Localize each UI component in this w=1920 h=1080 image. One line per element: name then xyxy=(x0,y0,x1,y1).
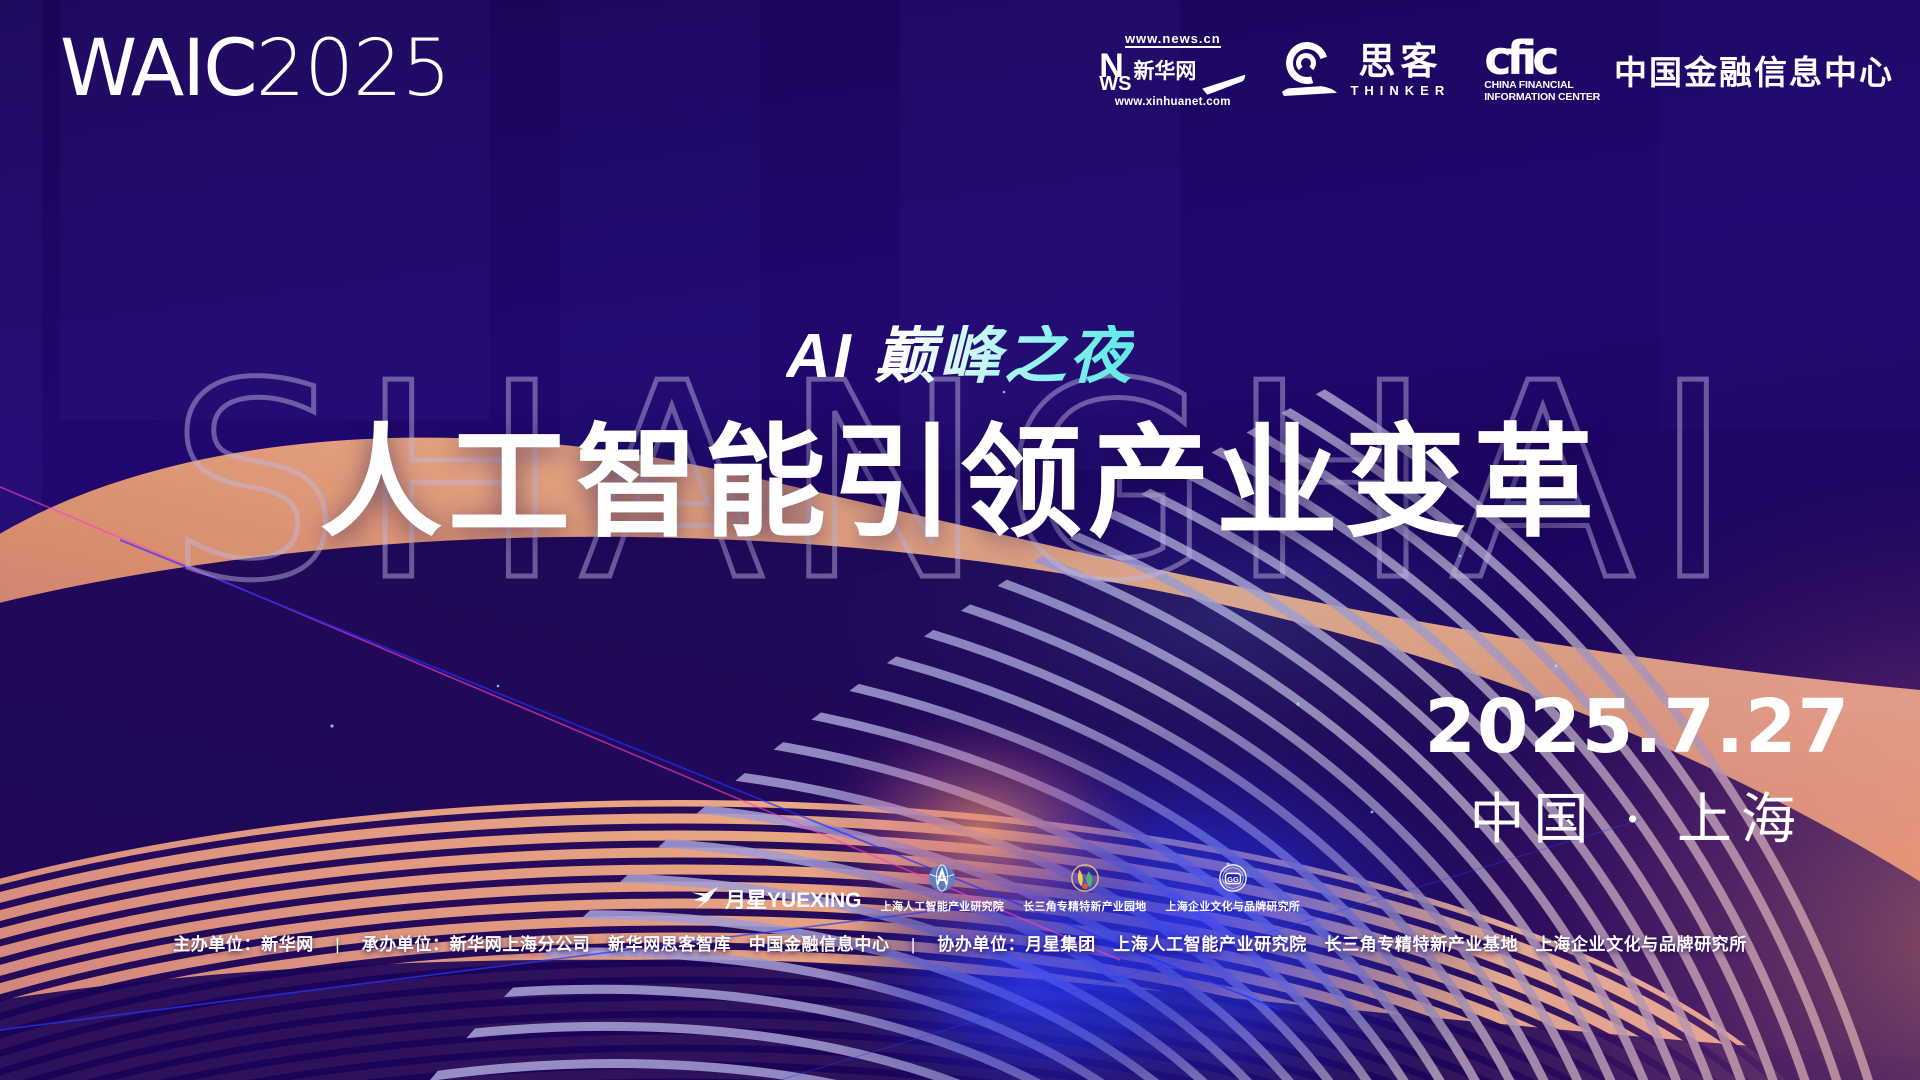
thinker-spiral-icon xyxy=(1280,40,1340,100)
sponsor-ai-institute: 上海人工智能产业研究院 xyxy=(881,863,1004,914)
cfic-logo: cfic CHINA FINANCIAL INFORMATION CENTER … xyxy=(1484,37,1894,104)
credits-organizer-label: 承办单位： xyxy=(362,935,450,954)
event-date-block: 2025.7.27 中国 · 上海 xyxy=(1424,690,1850,848)
event-date: 2025.7.27 xyxy=(1424,690,1850,764)
sponsor-ai-institute-label: 上海人工智能产业研究院 xyxy=(881,898,1004,914)
event-headline: 人工智能引领产业变革 xyxy=(320,418,1600,548)
xinhua-news-logo: www.news.cn N WS 新华网 www.xinhuanet.com xyxy=(1099,32,1246,109)
partner-logos: www.news.cn N WS 新华网 www.xinhuanet.com xyxy=(1099,28,1894,112)
waic-logo: WAIC2025 xyxy=(60,30,450,108)
event-subtitle: AI 巅峰之夜 xyxy=(786,325,1134,389)
credits-line: 主办单位：新华网 | 承办单位：新华网上海分公司 新华网思客智库 中国金融信息中… xyxy=(0,930,1920,955)
credits-organizers: 新华网上海分公司 新华网思客智库 中国金融信息中心 xyxy=(450,935,890,954)
xinhua-url-bottom: www.xinhuanet.com xyxy=(1115,97,1231,109)
cfic-chinese-name: 中国金融信息中心 xyxy=(1614,46,1894,94)
sponsor-yangtze-delta-label: 长三角专精特新产业园地 xyxy=(1023,898,1146,914)
waic-logo-year: 2025 xyxy=(256,24,451,114)
credits-host: 主办单位：新华网 xyxy=(173,935,314,954)
credits-coorganizers: 月星集团 上海人工智能产业研究院 长三角专精特新产业基地 上海企业文化与品牌研究… xyxy=(1025,935,1747,954)
xinhua-url-top: www.news.cn xyxy=(1125,32,1221,48)
yuexing-bird-icon xyxy=(690,885,720,913)
event-location: 中国 · 上海 xyxy=(1424,790,1850,848)
svg-text:GG: GG xyxy=(1227,875,1239,884)
sponsor-brand-institute-label: 上海企业文化与品牌研究所 xyxy=(1166,898,1300,914)
sponsor-yuexing-label: 月星YUEXING xyxy=(725,884,862,914)
credits-separator-2: | xyxy=(895,935,932,954)
xinhua-letter-ws: WS xyxy=(1099,75,1131,93)
thinker-english-name: THINKER xyxy=(1350,84,1450,97)
poster-header: WAIC2025 www.news.cn N WS 新华网 www.xinhua… xyxy=(0,0,1920,140)
sponsor-logo-strip: 月星YUEXING 上海人工智能产业研究院 长三角专精特新产业园地 xyxy=(690,842,1300,914)
xinhua-swoosh-icon xyxy=(1202,74,1247,95)
yangtze-delta-icon xyxy=(1070,863,1100,893)
cfic-english-line2: INFORMATION CENTER xyxy=(1484,92,1600,104)
waic-logo-word: WAIC xyxy=(60,24,256,114)
event-poster: WAIC2025 www.news.cn N WS 新华网 www.xinhua… xyxy=(0,0,1920,1080)
sponsor-yuexing: 月星YUEXING xyxy=(690,884,862,914)
sponsor-yangtze-delta: 长三角专精特新产业园地 xyxy=(1023,863,1146,914)
cfic-english-line1: CHINA FINANCIAL xyxy=(1484,80,1600,92)
cfic-wordmark: cfic xyxy=(1484,37,1600,79)
credits-separator-1: | xyxy=(319,935,356,954)
sponsor-brand-institute: GG 上海企业文化与品牌研究所 xyxy=(1166,863,1300,914)
globe-ai-icon xyxy=(927,863,957,893)
brand-institute-seal-icon: GG xyxy=(1218,863,1248,893)
xinhua-chinese-name: 新华网 xyxy=(1133,61,1196,82)
thinker-logo: 思客 THINKER xyxy=(1280,40,1450,100)
thinker-chinese-name: 思客 xyxy=(1358,43,1442,80)
credits-coorganizer-label: 协办单位： xyxy=(937,935,1025,954)
